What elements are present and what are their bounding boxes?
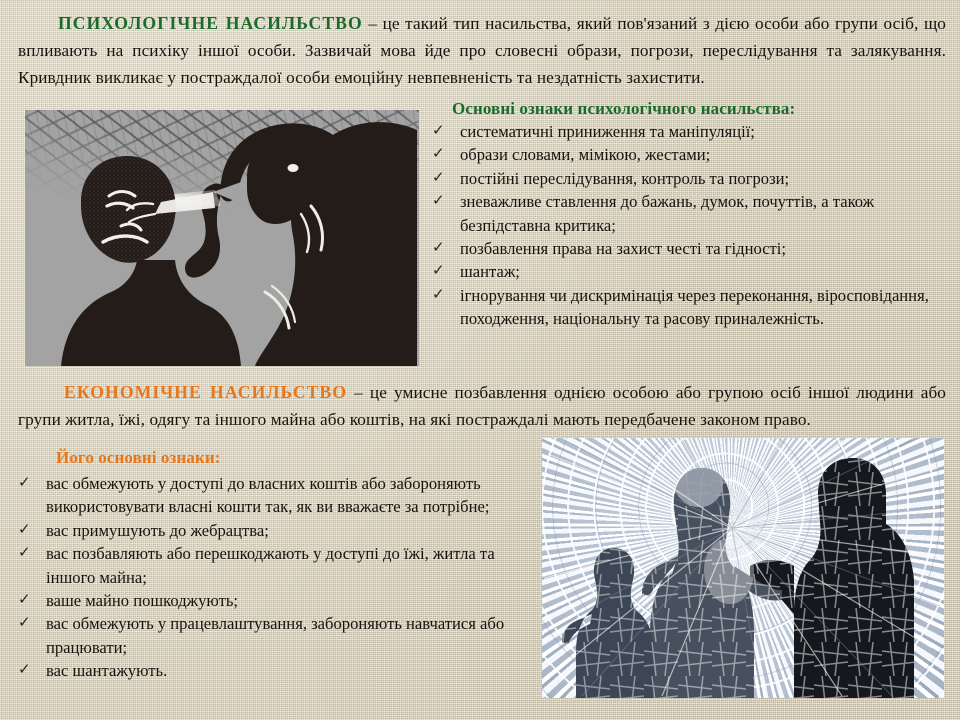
- economic-illustration-figures: [542, 438, 944, 698]
- list-item-label: вас обмежують у доступі до власних кошті…: [46, 474, 489, 516]
- psychological-violence-heading: ПСИХОЛОГІЧНЕ НАСИЛЬСТВО: [58, 13, 363, 33]
- list-item-label: ігнорування чи дискримінація через перек…: [460, 286, 929, 328]
- list-item-label: вас шантажують.: [46, 661, 167, 680]
- economic-signs-heading: Його основні ознаки:: [56, 448, 456, 468]
- list-item: ✓вас шантажують.: [18, 659, 528, 682]
- slide-canvas: ПСИХОЛОГІЧНЕ НАСИЛЬСТВО – це такий тип н…: [0, 0, 960, 720]
- psychological-violence-paragraph: ПСИХОЛОГІЧНЕ НАСИЛЬСТВО – це такий тип н…: [18, 10, 946, 91]
- list-item-label: систематичні приниження та маніпуляції;: [460, 122, 755, 141]
- economic-violence-heading: ЕКОНОМІЧНЕ НАСИЛЬСТВО: [64, 382, 347, 402]
- list-item-label: вас обмежують у працевлаштування, заборо…: [46, 614, 504, 656]
- list-item: ✓систематичні приниження та маніпуляції;: [432, 120, 948, 143]
- check-icon: ✓: [18, 588, 31, 611]
- check-icon: ✓: [18, 471, 31, 494]
- check-icon: ✓: [432, 166, 445, 189]
- check-icon: ✓: [432, 142, 445, 165]
- check-icon: ✓: [18, 518, 31, 541]
- economic-violence-illustration: [542, 438, 944, 698]
- psychological-signs-list: ✓систематичні приниження та маніпуляції;…: [432, 120, 948, 331]
- check-icon: ✓: [18, 658, 31, 681]
- list-item: ✓образи словами, мімікою, жестами;: [432, 143, 948, 166]
- list-item: ✓постійні переслідування, контроль та по…: [432, 167, 948, 190]
- list-item: ✓ігнорування чи дискримінація через пере…: [432, 284, 948, 331]
- check-icon: ✓: [432, 236, 445, 259]
- check-icon: ✓: [432, 259, 445, 282]
- illustration-figures: [25, 110, 419, 366]
- list-item: ✓вас позбавляють або перешкоджають у дос…: [18, 542, 528, 589]
- list-item: ✓позбавлення права на захист честі та гі…: [432, 237, 948, 260]
- psychological-signs-heading: Основні ознаки психологічного насильства…: [452, 99, 952, 119]
- psychological-violence-illustration: [25, 110, 419, 366]
- economic-violence-paragraph: ЕКОНОМІЧНЕ НАСИЛЬСТВО – це умисне позбав…: [18, 379, 946, 433]
- list-item: ✓вас примушують до жебрацтва;: [18, 519, 528, 542]
- list-item-label: позбавлення права на захист честі та гід…: [460, 239, 786, 258]
- check-icon: ✓: [18, 611, 31, 634]
- list-item-label: зневажливе ставлення до бажань, думок, п…: [460, 192, 874, 234]
- list-item-label: вас позбавляють або перешкоджають у дост…: [46, 544, 495, 586]
- check-icon: ✓: [18, 541, 31, 564]
- list-item: ✓вас обмежують у доступі до власних кошт…: [18, 472, 528, 519]
- list-item-label: ваше майно пошкоджують;: [46, 591, 238, 610]
- list-item: ✓вас обмежують у працевлаштування, забор…: [18, 612, 528, 659]
- list-item: ✓ваше майно пошкоджують;: [18, 589, 528, 612]
- check-icon: ✓: [432, 283, 445, 306]
- list-item-label: постійні переслідування, контроль та пог…: [460, 169, 789, 188]
- check-icon: ✓: [432, 119, 445, 142]
- list-item-label: шантаж;: [460, 262, 520, 281]
- list-item: ✓зневажливе ставлення до бажань, думок, …: [432, 190, 948, 237]
- list-item-label: образи словами, мімікою, жестами;: [460, 145, 710, 164]
- economic-signs-list: ✓вас обмежують у доступі до власних кошт…: [18, 472, 528, 683]
- list-item: ✓шантаж;: [432, 260, 948, 283]
- list-item-label: вас примушують до жебрацтва;: [46, 521, 269, 540]
- check-icon: ✓: [432, 189, 445, 212]
